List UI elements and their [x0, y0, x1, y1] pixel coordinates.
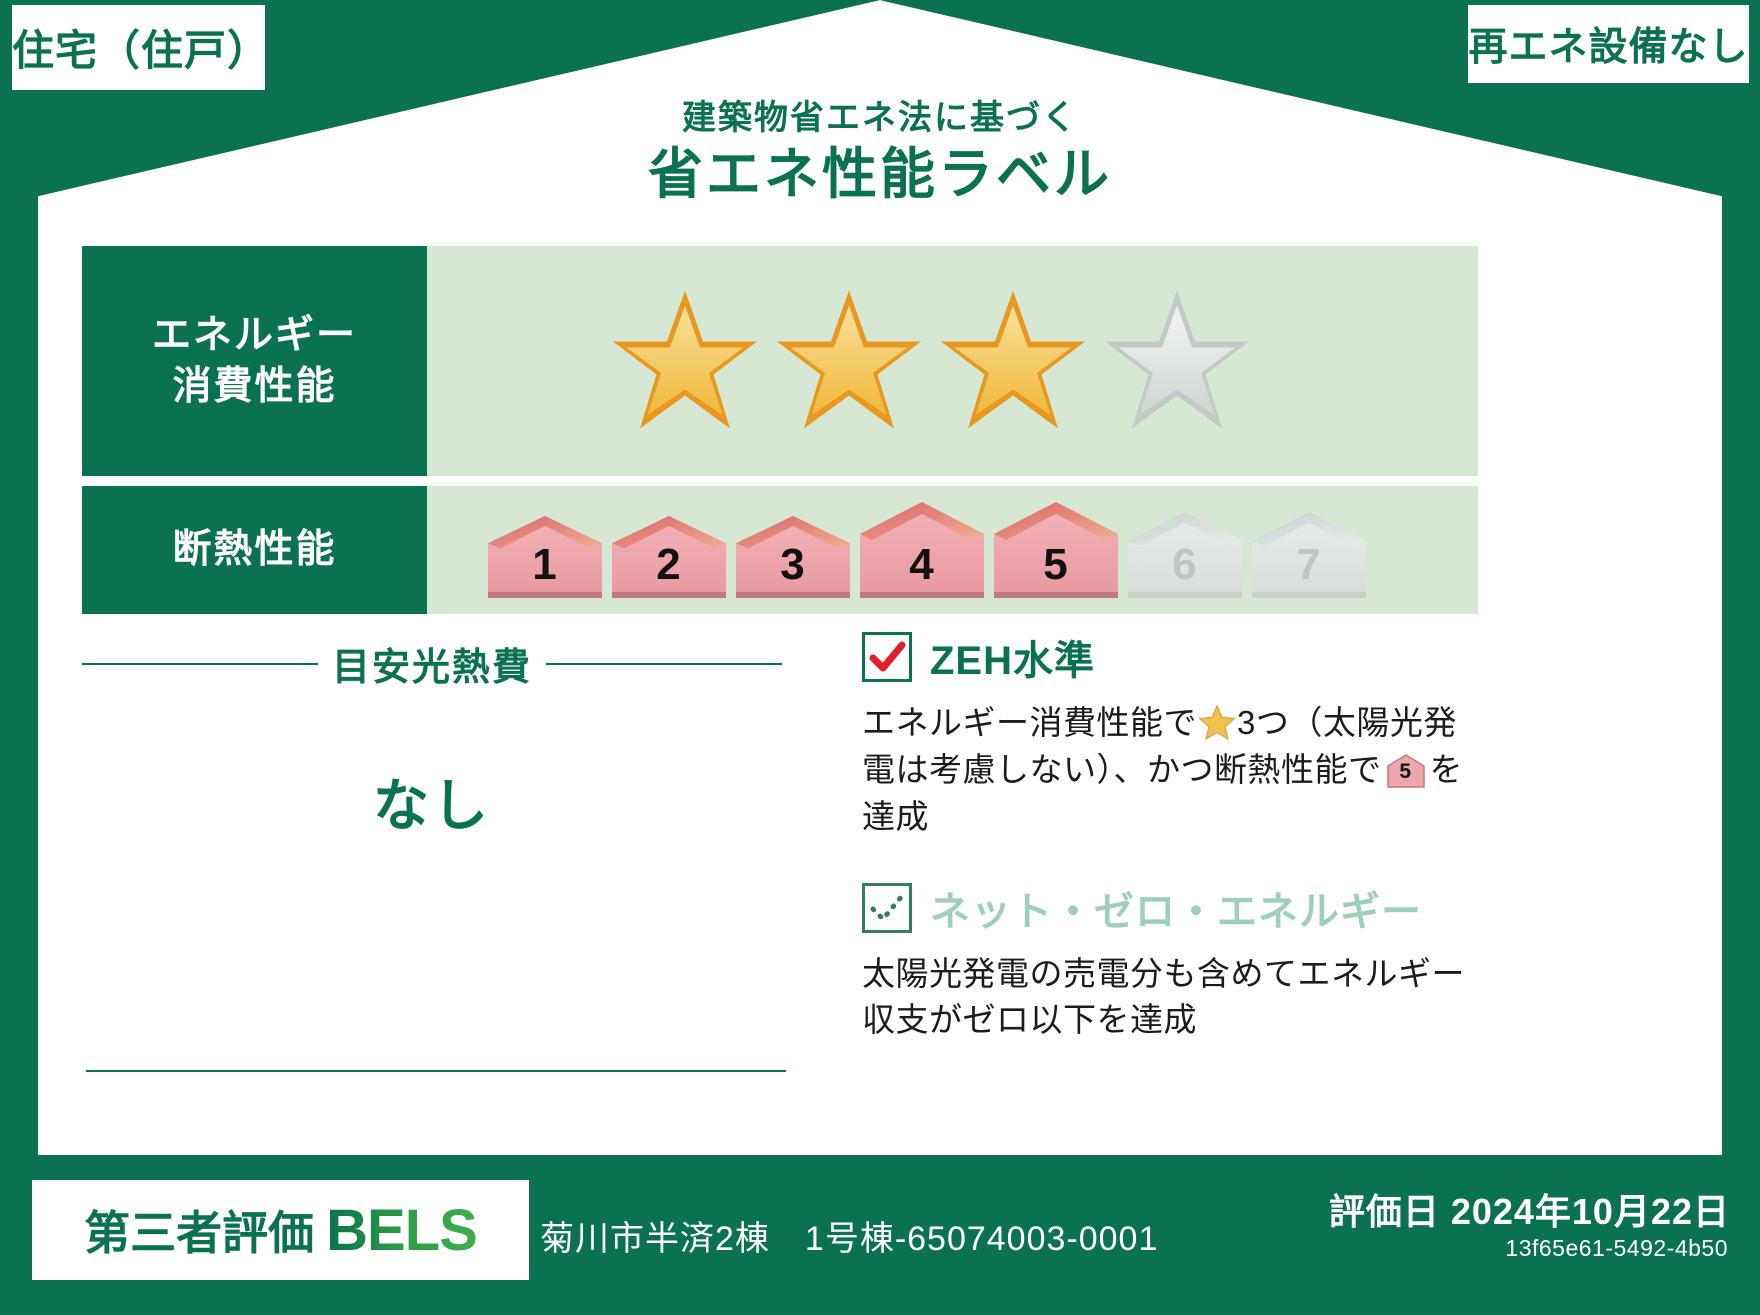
footer: 第三者評価 BELS 菊川市半済2棟 1号棟-65074003-0001 評価日…	[0, 1155, 1760, 1315]
zeh-desc-part1: エネルギー消費性能で	[862, 704, 1197, 741]
net-zero-desc-line1: 太陽光発電の売電分も含めてエネルギー	[862, 951, 1488, 998]
house-level-5: 5	[992, 500, 1120, 600]
net-zero-block: ネット・ゼロ・エネルギー 太陽光発電の売電分も含めてエネルギー 収支がゼロ以下を…	[862, 879, 1488, 1045]
bels-en-text: BELS	[326, 1197, 477, 1264]
zeh-header: ZEH水準	[862, 628, 1488, 686]
house-level-4: 4	[858, 500, 986, 600]
certification-info-column: ZEH水準 エネルギー消費性能で 3つ（太陽光発電は考慮しない）、かつ断熱性能で…	[862, 628, 1488, 1044]
utility-cost-section: 目安光熱費 なし	[82, 636, 782, 842]
star-rating	[610, 286, 1252, 436]
energy-label-line2: 消費性能	[172, 361, 336, 412]
title-block: 建築物省エネ法に基づく 省エネ性能ラベル	[0, 100, 1760, 207]
star-filled-icon	[938, 286, 1088, 436]
check-icon	[865, 635, 909, 679]
house-level-number: 2	[610, 540, 728, 590]
energy-performance-value	[427, 246, 1478, 476]
insulation-label-text: 断熱性能	[172, 524, 336, 575]
footer-id: 13f65e61-5492-4b50	[1505, 1235, 1728, 1262]
footer-address: 菊川市半済2棟 1号棟-65074003-0001	[540, 1211, 1158, 1260]
house-level-number: 3	[734, 540, 852, 590]
badge-renewable-equipment: 再エネ設備なし	[1468, 5, 1749, 83]
house-level-number: 7	[1250, 540, 1368, 590]
insulation-performance-label: 断熱性能	[82, 486, 427, 614]
house-level-number: 1	[486, 540, 604, 590]
main-panel: エネルギー 消費性能 断熱性能 1234567 目安光熱費 なし	[38, 208, 1722, 1036]
house-level-number: 6	[1126, 540, 1244, 590]
insulation-house-scale: 1234567	[486, 500, 1368, 600]
net-zero-checkbox[interactable]	[862, 883, 912, 933]
house-level-3: 3	[734, 514, 852, 600]
inline-house-level: 5	[1386, 753, 1426, 789]
net-zero-title: ネット・ゼロ・エネルギー	[930, 879, 1422, 937]
net-zero-header: ネット・ゼロ・エネルギー	[862, 879, 1488, 937]
check-dotted-icon	[865, 886, 909, 930]
utility-cost-title: 目安光熱費	[332, 636, 532, 691]
bels-logo: 第三者評価 BELS	[32, 1180, 529, 1280]
utility-cost-bottom-divider	[86, 1070, 786, 1072]
title-subtitle: 建築物省エネ法に基づく	[0, 100, 1760, 137]
zeh-title: ZEH水準	[930, 628, 1095, 686]
utility-cost-value: なし	[82, 761, 782, 842]
bels-label: 住宅（住戸） 再エネ設備なし 建築物省エネ法に基づく 省エネ性能ラベル エネルギ…	[0, 0, 1760, 1315]
insulation-performance-row: 断熱性能 1234567	[82, 486, 1478, 614]
page-title: 省エネ性能ラベル	[0, 143, 1760, 206]
footer-evaluation-date: 評価日 2024年10月22日	[1329, 1183, 1730, 1235]
star-empty-icon	[1102, 286, 1252, 436]
utility-cost-header: 目安光熱費	[82, 636, 782, 691]
house-level-7: 7	[1250, 510, 1368, 600]
inline-star-icon	[1199, 704, 1235, 740]
energy-performance-label: エネルギー 消費性能	[82, 246, 427, 476]
house-level-6: 6	[1126, 510, 1244, 600]
zeh-description: エネルギー消費性能で 3つ（太陽光発電は考慮しない）、かつ断熱性能で 5 を達成	[862, 700, 1488, 841]
bels-jp-text: 第三者評価	[84, 1197, 314, 1263]
house-level-1: 1	[486, 514, 604, 600]
house-level-number: 5	[992, 540, 1120, 590]
inline-house-icon: 5	[1386, 753, 1426, 789]
house-level-number: 4	[858, 540, 986, 590]
net-zero-desc-line2: 収支がゼロ以下を達成	[862, 997, 1488, 1044]
house-level-2: 2	[610, 514, 728, 600]
net-zero-description: 太陽光発電の売電分も含めてエネルギー 収支がゼロ以下を達成	[862, 951, 1488, 1045]
badge-building-type: 住宅（住戸）	[12, 5, 265, 90]
divider-left	[82, 663, 318, 665]
insulation-performance-value: 1234567	[427, 486, 1478, 614]
energy-label-line1: エネルギー	[152, 310, 357, 361]
zeh-checkbox[interactable]	[862, 632, 912, 682]
star-filled-icon	[774, 286, 924, 436]
star-filled-icon	[610, 286, 760, 436]
zeh-block: ZEH水準 エネルギー消費性能で 3つ（太陽光発電は考慮しない）、かつ断熱性能で…	[862, 628, 1488, 841]
zeh-desc-part3: は考慮しない）、かつ断熱性能で	[896, 751, 1382, 788]
divider-right	[546, 663, 782, 665]
energy-performance-row: エネルギー 消費性能	[82, 246, 1478, 476]
